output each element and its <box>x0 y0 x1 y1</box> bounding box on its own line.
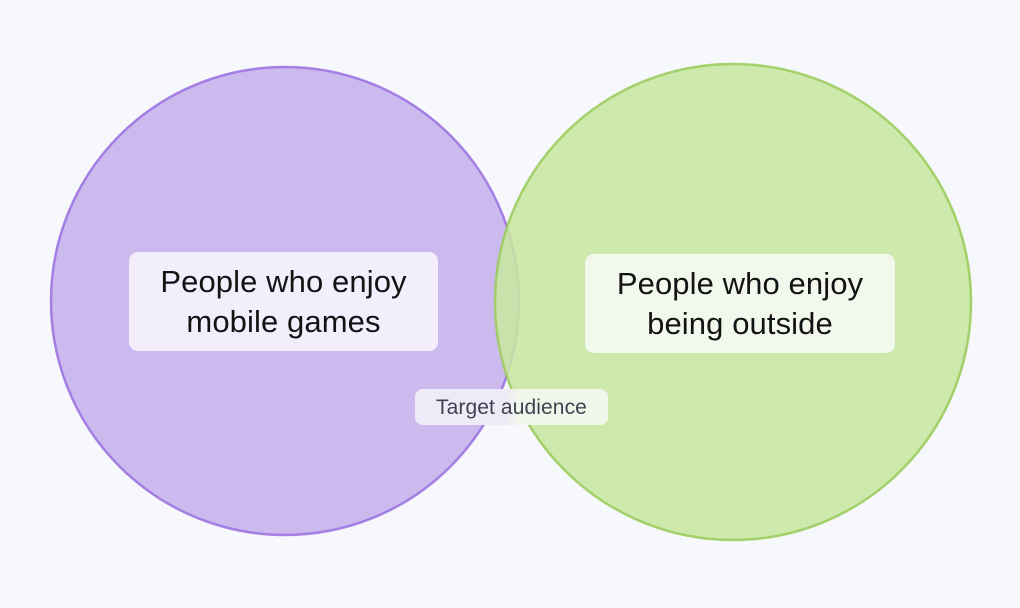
set-label-mobile-games[interactable]: People who enjoy mobile games <box>129 252 438 351</box>
intersection-label-target-audience[interactable]: Target audience <box>415 389 608 425</box>
set-label-being-outside[interactable]: People who enjoy being outside <box>585 254 895 353</box>
venn-diagram-canvas: People who enjoy mobile games People who… <box>0 0 1020 608</box>
